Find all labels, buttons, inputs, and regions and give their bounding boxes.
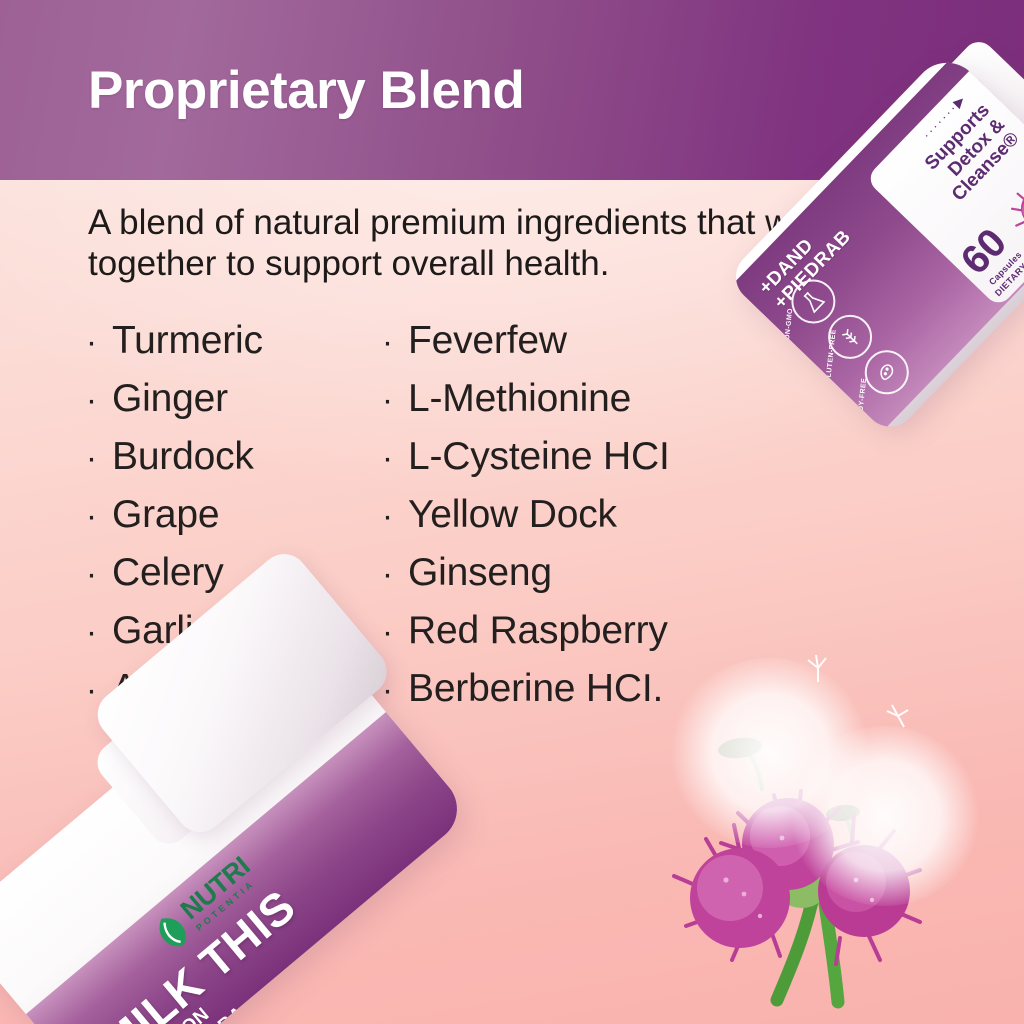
ingredient-column-right: ·Feverfew ·L-Methionine ·L-Cysteine HCI … [382, 312, 678, 718]
badge-label: GLUTEN-FREE [825, 329, 838, 384]
milk-thistle-decoration [640, 648, 1024, 1024]
dandelion-seed-head [790, 726, 980, 906]
bullet-icon: · [382, 313, 408, 370]
bullet-icon: · [382, 429, 408, 486]
page-title: Proprietary Blend [88, 64, 524, 117]
list-item: ·Feverfew [382, 312, 678, 370]
product-infographic: Proprietary Blend A blend of natural pre… [0, 0, 1024, 1024]
bullet-icon: · [86, 371, 112, 428]
list-item: ·Ginseng [382, 544, 678, 602]
bullet-icon: · [86, 603, 112, 660]
certification-badges: NON-GMO GLUTEN-FREE SOY-FREE [782, 270, 918, 403]
list-item: ·Red Raspberry [382, 602, 678, 660]
bullet-icon: · [382, 487, 408, 544]
bullet-icon: · [86, 429, 112, 486]
wheat-icon [833, 320, 867, 354]
bullet-icon: · [86, 313, 112, 370]
bullet-icon: · [86, 487, 112, 544]
badge-label: SOY-FREE [857, 378, 868, 417]
list-item: ·L-Cysteine HCI [382, 428, 678, 486]
list-item: ·Ginger [86, 370, 382, 428]
flask-icon [796, 284, 830, 318]
bullet-icon: · [382, 371, 408, 428]
bullet-icon: · [86, 545, 112, 602]
list-item: ·Burdock [86, 428, 382, 486]
list-item: ·L-Methionine [382, 370, 678, 428]
list-item: ·Turmeric [86, 312, 382, 370]
soybean-icon [870, 355, 904, 389]
bullet-icon: · [382, 545, 408, 602]
list-item: ·Grape [86, 486, 382, 544]
list-item: ·Yellow Dock [382, 486, 678, 544]
